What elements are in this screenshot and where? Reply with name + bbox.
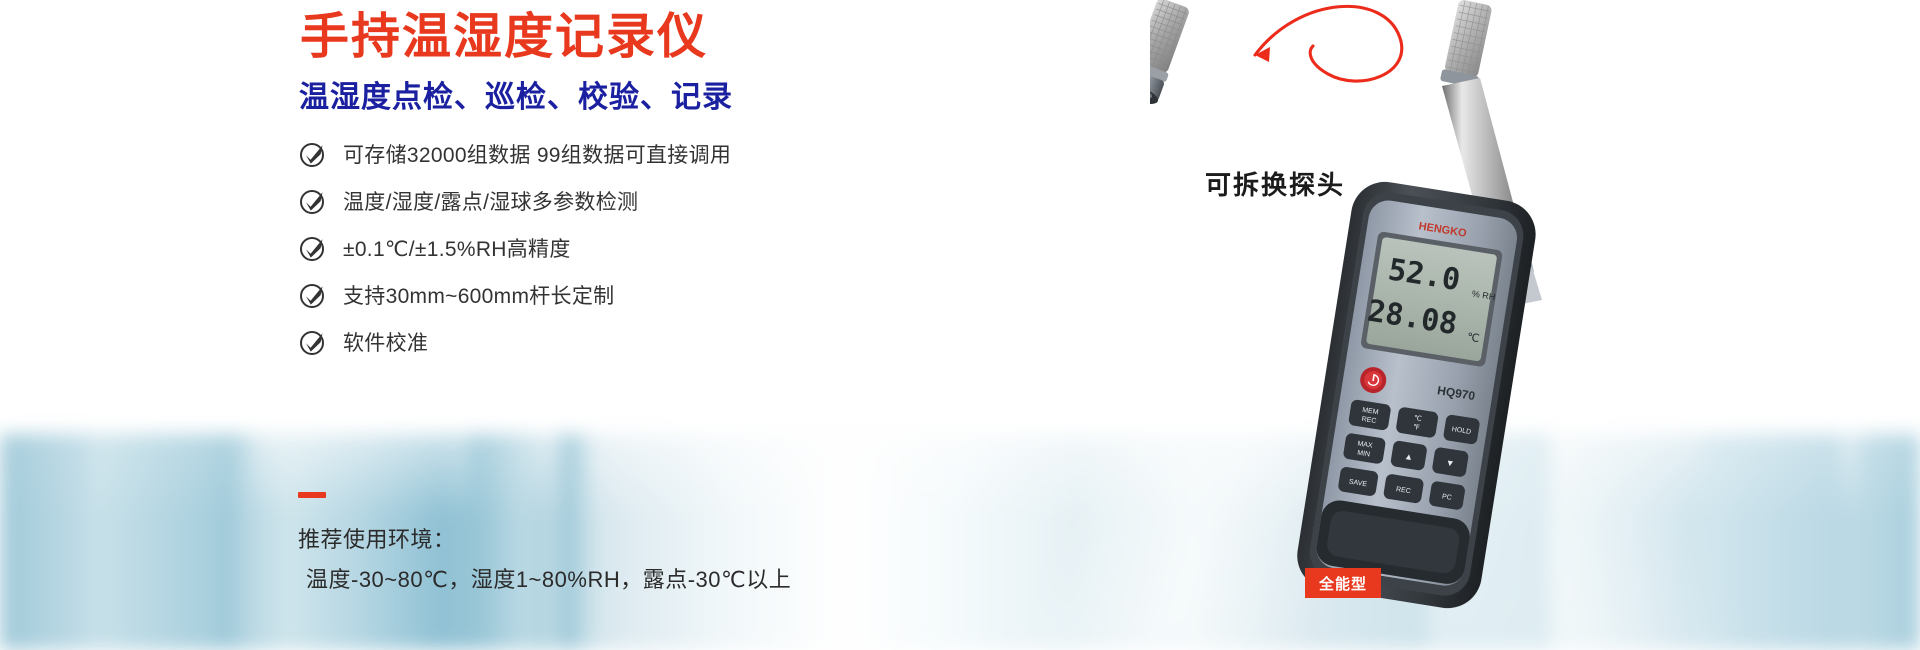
page-title: 手持温湿度记录仪 — [300, 8, 708, 67]
check-circle-icon — [299, 187, 327, 215]
list-item: 软件校准 — [299, 318, 959, 365]
page-subtitle: 温湿度点检、巡检、校验、记录 — [299, 78, 733, 117]
text-content-column: 手持温湿度记录仪 温湿度点检、巡检、校验、记录 可存储32000组数据 99组数… — [0, 0, 1000, 650]
lcd-temperature-unit: ℃ — [1466, 331, 1480, 345]
meter-housing: HENGKO 52.0 % RH 28.08 ℃ HQ970 — [1292, 177, 1540, 613]
recommendation-title: 推荐使用环境： — [298, 522, 456, 554]
svg-text:℃: ℃ — [1413, 415, 1422, 423]
feature-label: 软件校准 — [343, 327, 428, 357]
list-item: 可存储32000组数据 99组数据可直接调用 — [299, 130, 959, 177]
feature-label: 支持30mm~600mm杆长定制 — [343, 280, 614, 310]
svg-text:▲: ▲ — [1404, 451, 1414, 462]
feature-label: 可存储32000组数据 99组数据可直接调用 — [343, 139, 731, 169]
check-circle-icon — [299, 328, 327, 356]
list-item: 支持30mm~600mm杆长定制 — [299, 271, 959, 318]
recommendation-detail: 温度-30~80℃，湿度1~80%RH，露点-30℃以上 — [306, 562, 791, 594]
product-banner: 手持温湿度记录仪 温湿度点检、巡检、校验、记录 可存储32000组数据 99组数… — [0, 0, 1920, 650]
status-badge: 全能型 — [1305, 568, 1381, 598]
product-device-image: HENGKO 52.0 % RH 28.08 ℃ HQ970 — [1150, 0, 1920, 650]
detachable-probe-icon — [1150, 0, 1192, 108]
check-circle-icon — [299, 281, 327, 309]
feature-list: 可存储32000组数据 99组数据可直接调用 温度/湿度/露点/湿球多参数检测 — [299, 130, 959, 365]
svg-text:▼: ▼ — [1445, 457, 1455, 468]
list-item: 温度/湿度/露点/湿球多参数检测 — [299, 177, 959, 224]
sensor-probe-head — [1440, 0, 1495, 89]
red-dash-marker — [298, 492, 326, 498]
red-arrow-icon — [1255, 6, 1402, 81]
check-circle-icon — [299, 234, 327, 262]
list-item: ±0.1℃/±1.5%RH高精度 — [299, 224, 959, 271]
lcd-display: 52.0 % RH 28.08 ℃ — [1360, 231, 1503, 367]
feature-label: ±0.1℃/±1.5%RH高精度 — [343, 233, 571, 263]
feature-label: 温度/湿度/露点/湿球多参数检测 — [343, 186, 638, 216]
check-circle-icon — [299, 140, 327, 168]
